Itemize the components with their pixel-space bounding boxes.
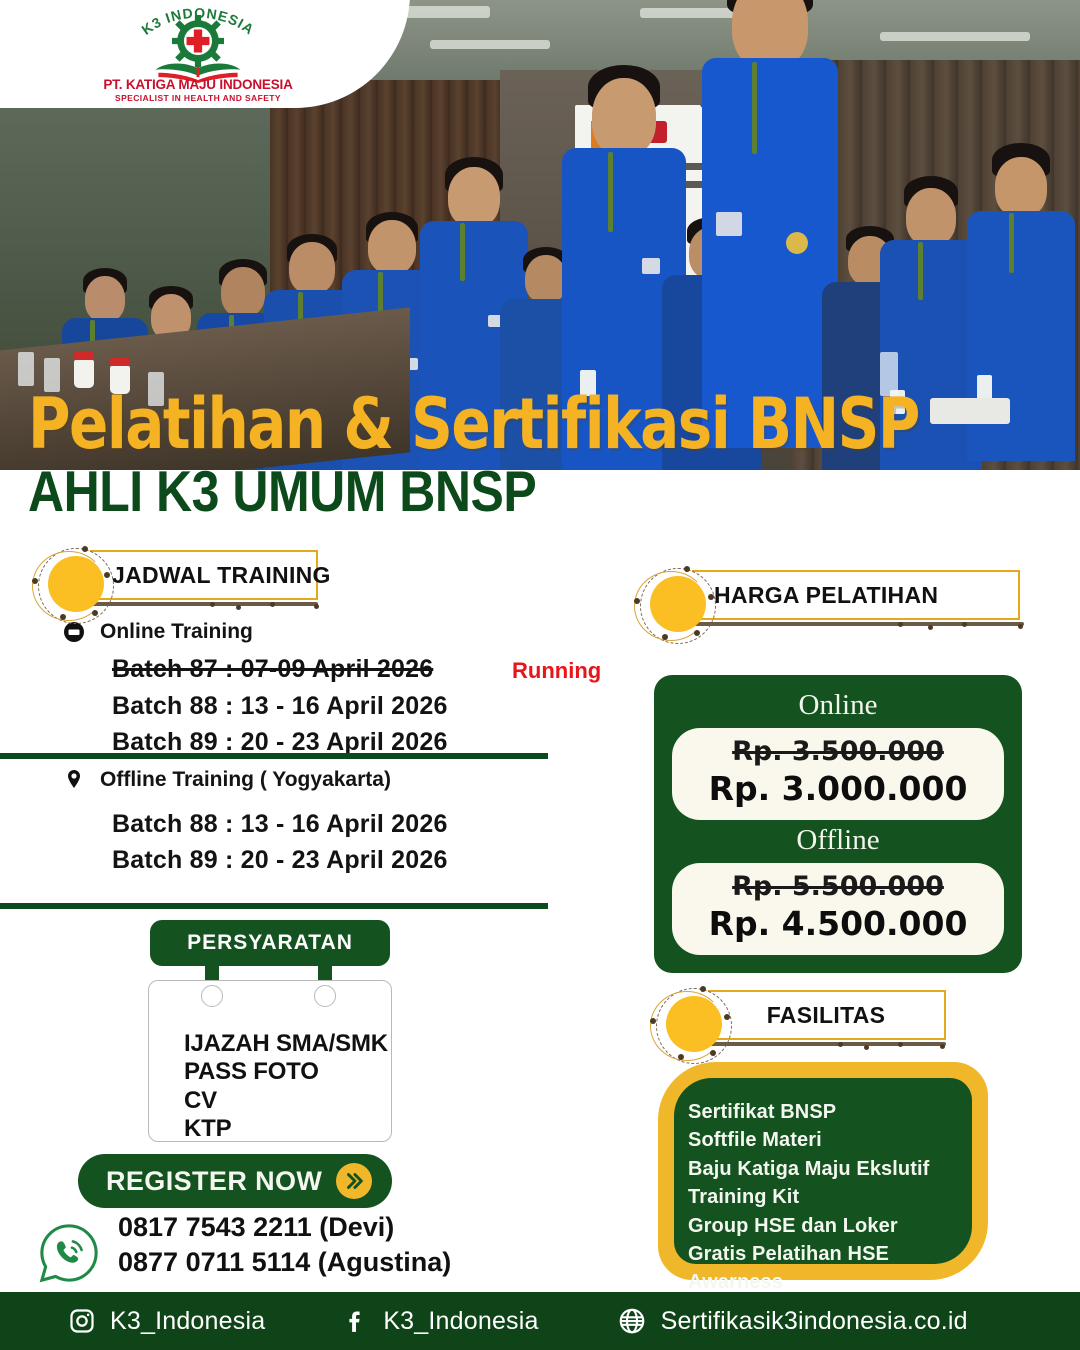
offline-training-label: Offline Training ( Yogyakarta) [100,768,391,792]
footer-website-url: Sertifikasik3indonesia.co.id [661,1307,968,1336]
facility-item: Training Kit [688,1183,978,1211]
facility-item: Softfile Materi [688,1126,978,1154]
ceiling-light [430,40,550,49]
price-card-online: Rp. 3.500.000 Rp. 3.000.000 [672,728,1004,820]
online-training-row: Online Training [62,620,253,644]
price-old-offline: Rp. 5.500.000 [682,871,994,902]
footer-instagram-handle: K3_Indonesia [110,1307,265,1336]
price-new-online: Rp. 3.000.000 [682,769,994,808]
price-tier-name: Online [672,685,1004,728]
schedule-heading-badge: JADWAL TRAINING [30,548,320,620]
photo-paper [930,398,1010,424]
double-chevron-right-icon [336,1163,372,1199]
requirement-item: PASS FOTO [184,1058,388,1086]
footer-facebook-handle: K3_Indonesia [383,1307,538,1336]
requirement-item: KTP [184,1115,388,1143]
logo-company-name: PT. KATIGA MAJU INDONESIA [88,77,308,92]
footer-website[interactable]: Sertifikasik3indonesia.co.id [617,1306,968,1336]
phone-number-1: 0817 7543 2211 (Devi) [118,1210,451,1245]
pricing-box: Online Rp. 3.500.000 Rp. 3.000.000 Offli… [654,675,1022,973]
facebook-icon [343,1307,369,1335]
requirements-list: IJAZAH SMA/SMK PASS FOTO CV KTP [184,1030,388,1143]
participant [965,205,1077,470]
facilities-heading-label: FASILITAS [767,1002,886,1029]
poster-root: K3 INDONESIA [0,0,1080,1350]
photo-cup-lid [74,352,94,360]
price-card-offline: Rp. 5.500.000 Rp. 4.500.000 [672,863,1004,955]
phone-number-2: 0877 0711 5114 (Agustina) [118,1245,451,1280]
footer-facebook[interactable]: K3_Indonesia [343,1307,538,1336]
requirement-item: IJAZAH SMA/SMK [184,1030,388,1058]
schedule-divider-top [0,753,548,759]
register-now-label: REGISTER NOW [106,1166,322,1197]
photo-cup-lid [110,358,130,366]
facility-item: Gratis Pelatihan HSE Awarness [688,1240,978,1297]
logo-company-tagline: SPECIALIST IN HEALTH AND SAFETY [88,93,308,103]
pricing-heading-label: HARGA PELATIHAN [692,582,938,609]
facility-item: Group HSE dan Loker [688,1212,978,1240]
requirements-heading: PERSYARATAN [150,920,390,966]
facility-item: Baju Katiga Maju Ekslutif [688,1155,978,1183]
poster-title-line1: Pelatihan & Sertifikasi BNSP [28,382,919,465]
requirements-hole [314,985,336,1007]
price-tier-name: Offline [672,820,1004,863]
whatsapp-call-icon[interactable] [38,1222,100,1284]
instagram-icon [68,1307,96,1335]
footer-instagram[interactable]: K3_Indonesia [68,1307,265,1336]
facilities-heading-badge: FASILITAS [648,988,948,1060]
offline-training-row: Offline Training ( Yogyakarta) [62,768,391,792]
requirements-hole [201,985,223,1007]
facility-item: Sertifikat BNSP [688,1098,978,1126]
online-training-label: Online Training [100,620,253,644]
company-logo: K3 INDONESIA [88,5,308,105]
requirement-item: CV [184,1087,388,1115]
globe-icon [617,1306,647,1336]
location-pin-icon [62,768,86,792]
ceiling-light [880,32,1030,41]
price-old-online: Rp. 3.500.000 [682,736,994,767]
price-new-offline: Rp. 4.500.000 [682,904,994,943]
footer-bar: K3_Indonesia K3_Indonesia Sertifikasik3i… [0,1292,1080,1350]
online-batch-1: Batch 87 : 07-09 April 2026 [112,655,433,684]
photo-glass [18,352,34,386]
offline-batch-1: Batch 88 : 13 - 16 April 2026 [112,810,448,839]
offline-batch-2: Batch 89 : 20 - 23 April 2026 [112,846,448,875]
gear-cross-icon [172,15,224,67]
register-now-button[interactable]: REGISTER NOW [78,1154,392,1208]
poster-title-line2: AHLI K3 UMUM BNSP [28,458,536,525]
schedule-heading-label: JADWAL TRAINING [90,562,331,589]
online-batch-2: Batch 88 : 13 - 16 April 2026 [112,692,448,721]
schedule-divider-bottom [0,903,548,909]
contact-phones: 0817 7543 2211 (Devi) 0877 0711 5114 (Ag… [118,1210,451,1280]
pricing-heading-badge: HARGA PELATIHAN [632,568,1032,640]
online-batch-1-status: Running [512,658,601,684]
